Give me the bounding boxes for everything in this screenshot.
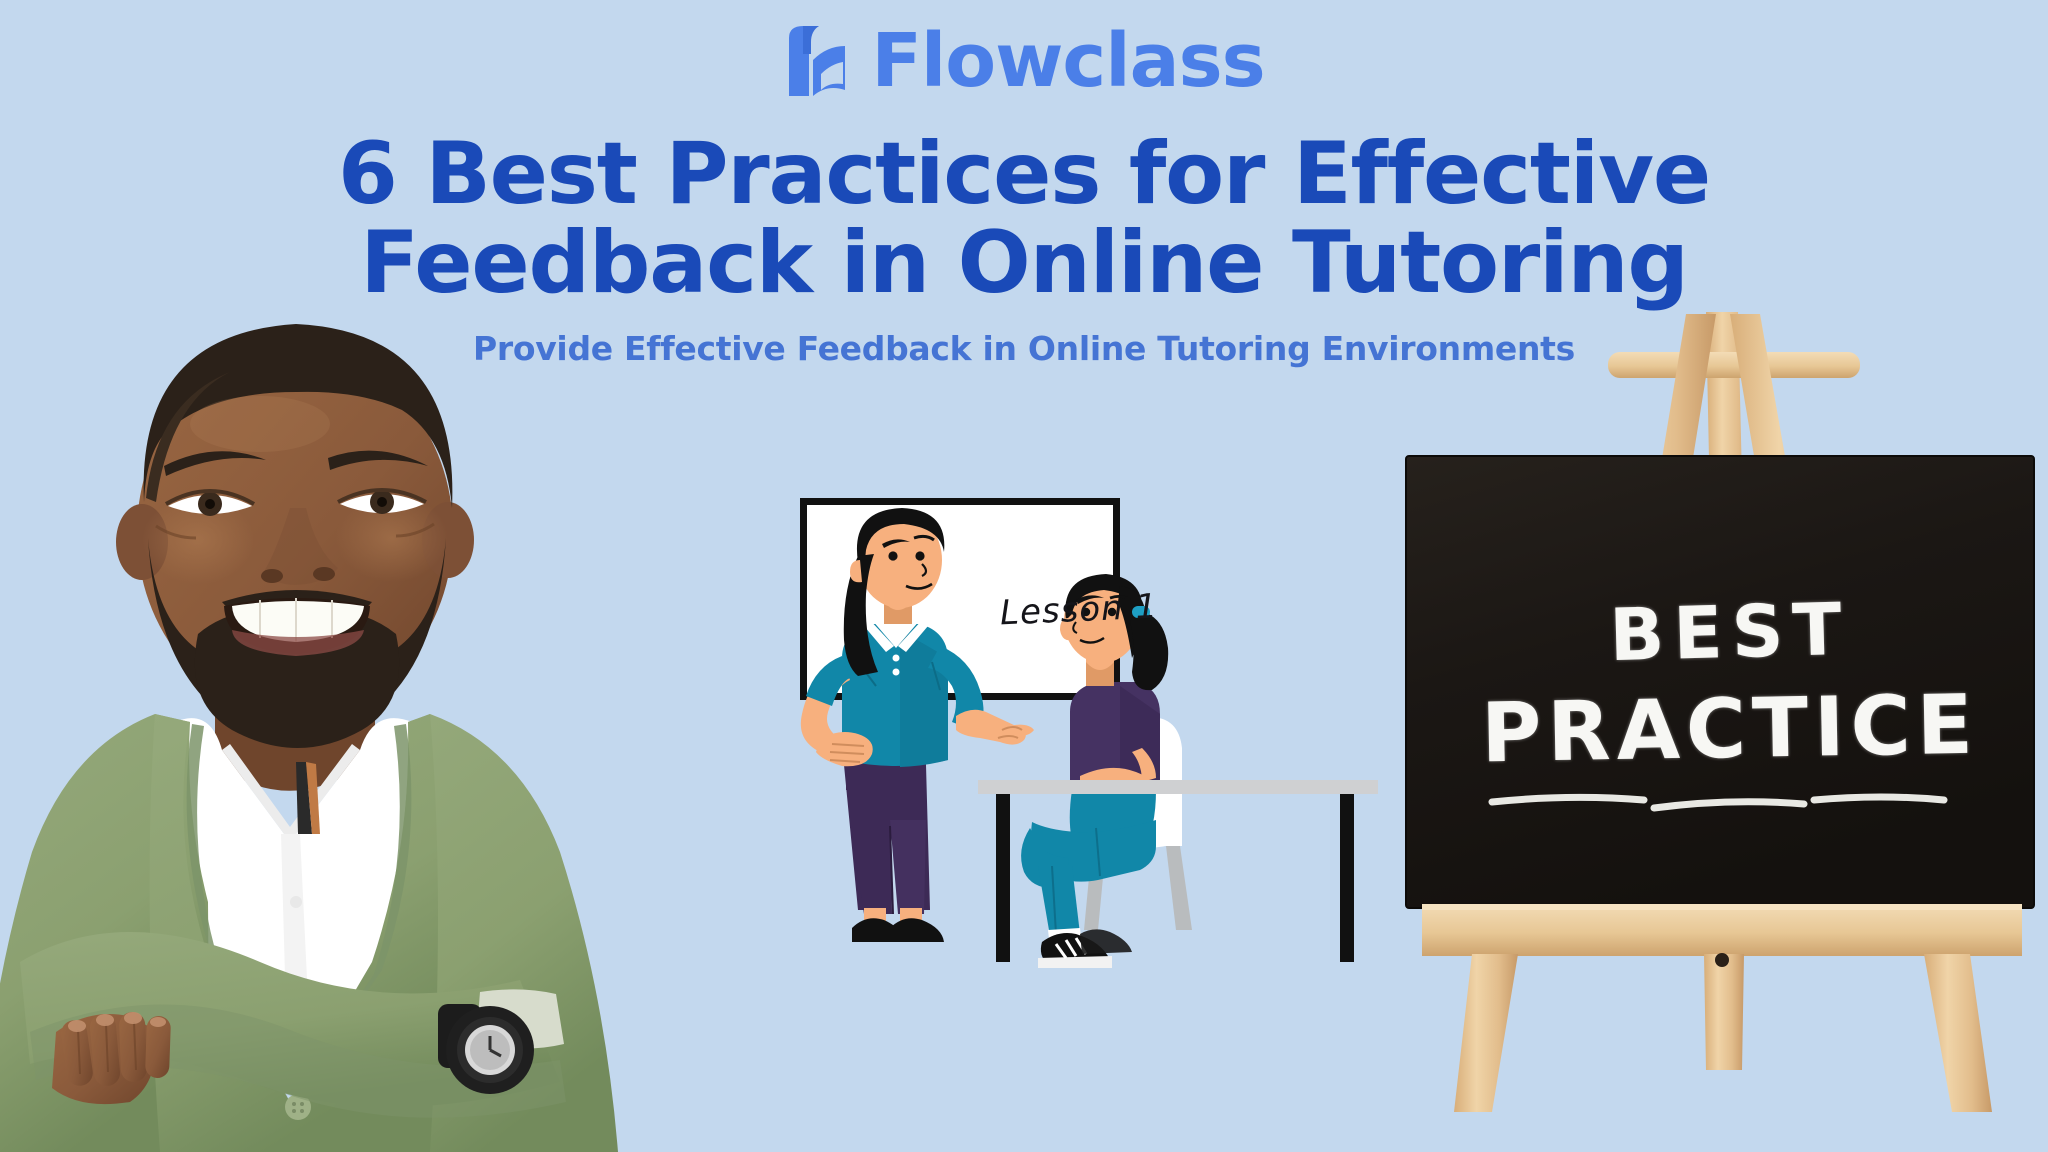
page-subtitle: Provide Effective Feedback in Online Tut…	[0, 329, 2048, 368]
flowclass-logo-icon	[783, 24, 849, 98]
poster-header: Flowclass 6 Best Practices for Effective…	[0, 0, 2048, 368]
poster-canvas: Lesson 1	[0, 0, 2048, 1152]
brand-wordmark: Flowclass	[871, 24, 1264, 98]
brand-lockup: Flowclass	[0, 0, 2048, 122]
whiteboard-lesson-label: Lesson 1	[999, 587, 1159, 634]
page-title-line-2: Feedback in Online Tutoring	[360, 213, 1688, 313]
easel-chalkboard	[1400, 300, 2048, 1152]
page-title-line-1: 6 Best Practices for Effective	[338, 124, 1710, 224]
page-title: 6 Best Practices for Effective Feedback …	[0, 130, 2048, 307]
